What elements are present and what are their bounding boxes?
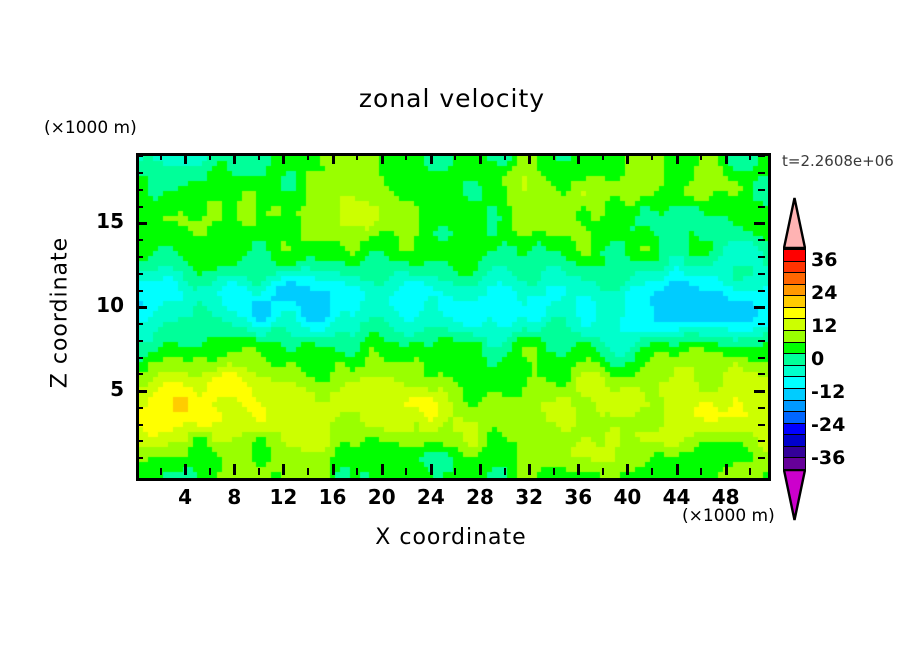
plot-area: [136, 153, 771, 481]
x-tick-major-top: [528, 153, 531, 164]
contour-field: [139, 156, 768, 478]
x-tick-label: 20: [357, 485, 407, 509]
x-tick-minor-top: [651, 153, 653, 160]
x-tick-minor-top: [209, 153, 211, 160]
colorbar-band: [783, 457, 806, 470]
x-tick-minor: [504, 468, 506, 475]
y-tick-minor-right: [758, 357, 765, 359]
colorbar-tick-label: -12: [811, 381, 845, 403]
y-tick-minor: [136, 239, 143, 241]
colorbar: 3624120-12-24-36: [783, 249, 806, 469]
y-tick-minor: [136, 357, 143, 359]
x-tick-major-top: [626, 153, 629, 164]
x-tick-major: [479, 464, 482, 475]
colorbar-extend-min-arrow: [783, 469, 806, 521]
x-tick-minor-top: [454, 153, 456, 160]
x-tick-major-top: [430, 153, 433, 164]
colorbar-tick-label: 24: [811, 282, 837, 304]
colorbar-tick-label: -36: [811, 447, 845, 469]
y-tick-minor: [136, 273, 143, 275]
x-tick-label: 4: [160, 485, 210, 509]
x-tick-minor: [553, 468, 555, 475]
x-tick-minor-top: [602, 153, 604, 160]
x-tick-label: 8: [209, 485, 259, 509]
y-axis-unit-label: (×1000 m): [44, 118, 137, 138]
x-tick-major-top: [233, 153, 236, 164]
y-tick-major: [136, 390, 147, 393]
x-tick-label: 32: [504, 485, 554, 509]
colorbar-tick-label: 0: [811, 348, 824, 370]
y-tick-minor: [136, 189, 143, 191]
x-tick-minor: [307, 468, 309, 475]
x-tick-major: [676, 464, 679, 475]
x-tick-minor-top: [356, 153, 358, 160]
x-tick-label: 28: [455, 485, 505, 509]
y-tick-minor-right: [758, 256, 765, 258]
x-tick-label: 44: [652, 485, 702, 509]
page-title: zonal velocity: [0, 84, 904, 113]
time-annotation: t=2.2608e+06: [782, 152, 894, 170]
y-tick-label: 10: [70, 293, 124, 317]
x-axis-title: X coordinate: [136, 525, 766, 550]
x-tick-major: [577, 464, 580, 475]
x-tick-label: 36: [553, 485, 603, 509]
colorbar-tick-label: 36: [811, 249, 837, 271]
x-tick-label: 24: [406, 485, 456, 509]
y-tick-minor: [136, 256, 143, 258]
y-tick-minor-right: [758, 440, 765, 442]
x-tick-major: [626, 464, 629, 475]
y-tick-minor-right: [758, 340, 765, 342]
y-tick-minor-right: [758, 189, 765, 191]
x-tick-minor-top: [749, 153, 751, 160]
x-tick-major: [528, 464, 531, 475]
y-tick-minor: [136, 290, 143, 292]
x-tick-major-top: [381, 153, 384, 164]
y-tick-minor: [136, 323, 143, 325]
y-tick-minor-right: [758, 424, 765, 426]
y-tick-minor-right: [758, 373, 765, 375]
x-tick-minor: [700, 468, 702, 475]
x-tick-minor-top: [553, 153, 555, 160]
x-tick-minor: [160, 468, 162, 475]
y-tick-minor: [136, 340, 143, 342]
x-tick-minor: [209, 468, 211, 475]
y-tick-minor-right: [758, 407, 765, 409]
x-tick-major: [233, 464, 236, 475]
x-tick-label: 16: [308, 485, 358, 509]
x-tick-label: 40: [602, 485, 652, 509]
x-tick-major: [332, 464, 335, 475]
y-tick-minor-right: [758, 457, 765, 459]
y-axis-title: Z coordinate: [48, 213, 73, 413]
y-tick-major-right: [754, 306, 765, 309]
x-tick-label: 48: [701, 485, 751, 509]
x-tick-minor-top: [258, 153, 260, 160]
x-tick-minor: [602, 468, 604, 475]
x-tick-major: [282, 464, 285, 475]
y-tick-label: 5: [70, 377, 124, 401]
y-tick-minor: [136, 424, 143, 426]
x-tick-minor-top: [700, 153, 702, 160]
y-tick-major: [136, 306, 147, 309]
y-tick-minor: [136, 373, 143, 375]
x-tick-label: 12: [258, 485, 308, 509]
x-tick-minor: [749, 468, 751, 475]
colorbar-extend-max-arrow: [783, 197, 806, 249]
x-tick-major: [184, 464, 187, 475]
x-tick-major: [725, 464, 728, 475]
y-tick-minor: [136, 206, 143, 208]
x-tick-major-top: [725, 153, 728, 164]
x-tick-minor: [258, 468, 260, 475]
y-tick-minor: [136, 440, 143, 442]
x-tick-major-top: [282, 153, 285, 164]
figure-root: zonal velocity (×1000 m) (×1000 m) t=2.2…: [0, 0, 904, 654]
x-tick-minor-top: [160, 153, 162, 160]
x-axis-unit-label: (×1000 m): [682, 506, 775, 526]
colorbar-tick-label: -24: [811, 414, 845, 436]
x-tick-minor-top: [504, 153, 506, 160]
x-tick-major-top: [332, 153, 335, 164]
y-tick-minor: [136, 407, 143, 409]
y-tick-minor-right: [758, 273, 765, 275]
y-tick-major-right: [754, 390, 765, 393]
y-tick-minor-right: [758, 239, 765, 241]
y-tick-minor-right: [758, 172, 765, 174]
x-tick-minor: [651, 468, 653, 475]
colorbar-tick-label: 12: [811, 315, 837, 337]
y-tick-minor-right: [758, 206, 765, 208]
x-tick-minor: [405, 468, 407, 475]
x-tick-major: [430, 464, 433, 475]
x-tick-minor-top: [405, 153, 407, 160]
y-tick-minor: [136, 172, 143, 174]
y-tick-minor-right: [758, 155, 765, 157]
y-tick-minor-right: [758, 323, 765, 325]
x-tick-minor: [356, 468, 358, 475]
y-tick-minor: [136, 155, 143, 157]
x-tick-major-top: [184, 153, 187, 164]
x-tick-major: [381, 464, 384, 475]
x-tick-minor-top: [307, 153, 309, 160]
y-tick-minor: [136, 457, 143, 459]
x-tick-major-top: [577, 153, 580, 164]
y-tick-label: 15: [70, 209, 124, 233]
x-tick-major-top: [479, 153, 482, 164]
y-tick-minor-right: [758, 290, 765, 292]
x-tick-major-top: [676, 153, 679, 164]
y-tick-major: [136, 222, 147, 225]
x-tick-minor: [454, 468, 456, 475]
y-tick-major-right: [754, 222, 765, 225]
